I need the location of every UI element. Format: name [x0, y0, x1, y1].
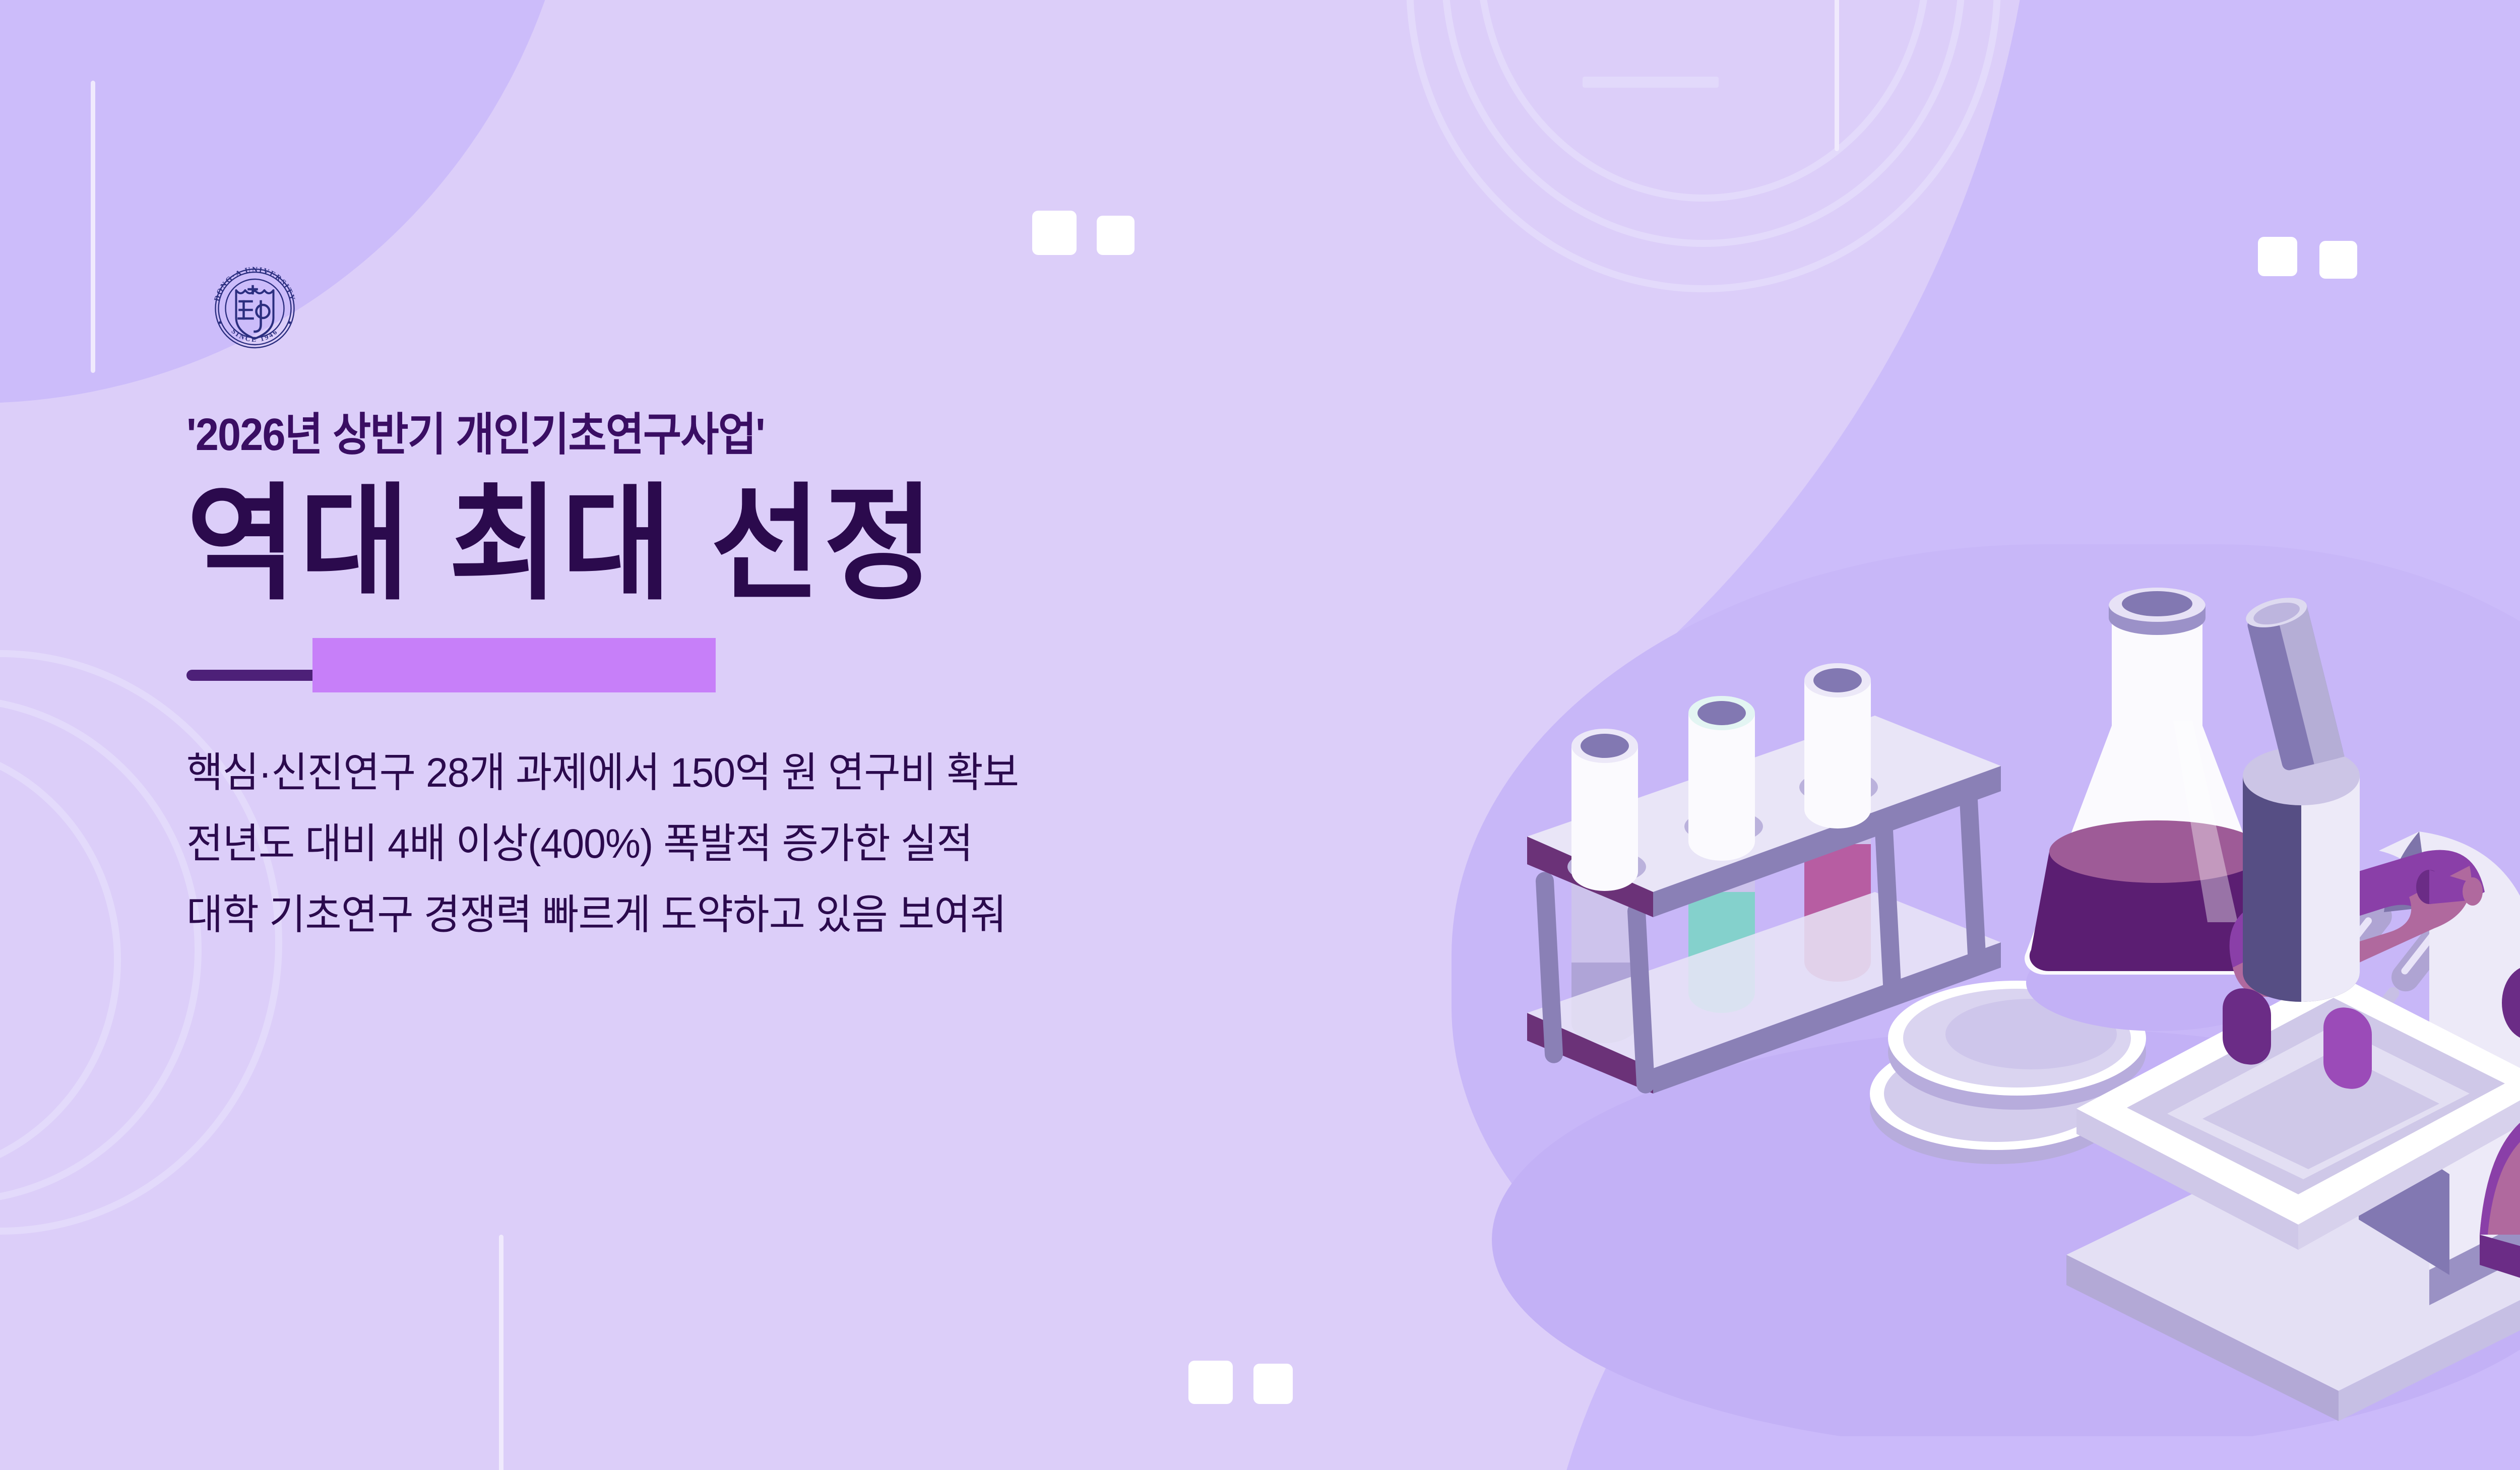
decor-square-top-1 — [1032, 211, 1077, 255]
lab-scene-svg — [1452, 569, 2520, 1436]
svg-text:SINCE 1946: SINCE 1946 — [230, 328, 280, 344]
headline-highlight-bar — [312, 638, 716, 692]
body-line-3: 대학 기초연구 경쟁력 빠르게 도약하고 있음 보여줘 — [186, 879, 1444, 950]
body-line-2: 전년도 대비 4배 이상(400%) 폭발적 증가한 실적 — [186, 808, 1444, 879]
banner-root: DONG·A UNIVERSITY SINCE 1946 '2026년 상반기 … — [0, 0, 2520, 1470]
decor-square-bottom-1 — [1188, 1361, 1233, 1404]
decor-square-top-right-2 — [2319, 241, 2357, 279]
eyebrow-program-title: '2026년 상반기 개인기초연구사업' — [186, 412, 1392, 458]
decor-bar-top-right — [1583, 77, 1719, 88]
body-text-group: 핵심·신진연구 28개 과제에서 150억 원 연구비 확보 전년도 대비 4배… — [186, 737, 1497, 950]
svg-text:DONG·A UNIVERSITY: DONG·A UNIVERSITY — [213, 266, 297, 302]
decor-strip-bottom-left — [499, 1235, 503, 1470]
university-seal-logo: DONG·A UNIVERSITY SINCE 1946 — [185, 258, 324, 359]
decor-square-top-2 — [1097, 216, 1135, 255]
decor-strip-top-right — [1835, 0, 1839, 151]
body-line-1: 핵심·신진연구 28개 과제에서 150억 원 연구비 확보 — [186, 737, 1444, 808]
decor-square-bottom-2 — [1253, 1364, 1293, 1404]
test-tube-purple — [1571, 729, 1638, 891]
section-divider — [186, 670, 328, 681]
copy-block: '2026년 상반기 개인기초연구사업' 역대 최대 선정 핵심·신진연구 28… — [186, 412, 1497, 950]
dong-a-university-seal-icon: DONG·A UNIVERSITY SINCE 1946 — [185, 258, 324, 359]
decor-square-top-right-1 — [2258, 237, 2297, 276]
headline-wrapper: 역대 최대 선정 — [186, 477, 1497, 612]
headline-main: 역대 최대 선정 — [186, 477, 1431, 612]
laboratory-illustration — [1452, 569, 2520, 1436]
test-tube-magenta — [1804, 663, 1871, 828]
test-tube-teal — [1688, 696, 1755, 861]
decor-strip-top-left — [91, 81, 95, 373]
